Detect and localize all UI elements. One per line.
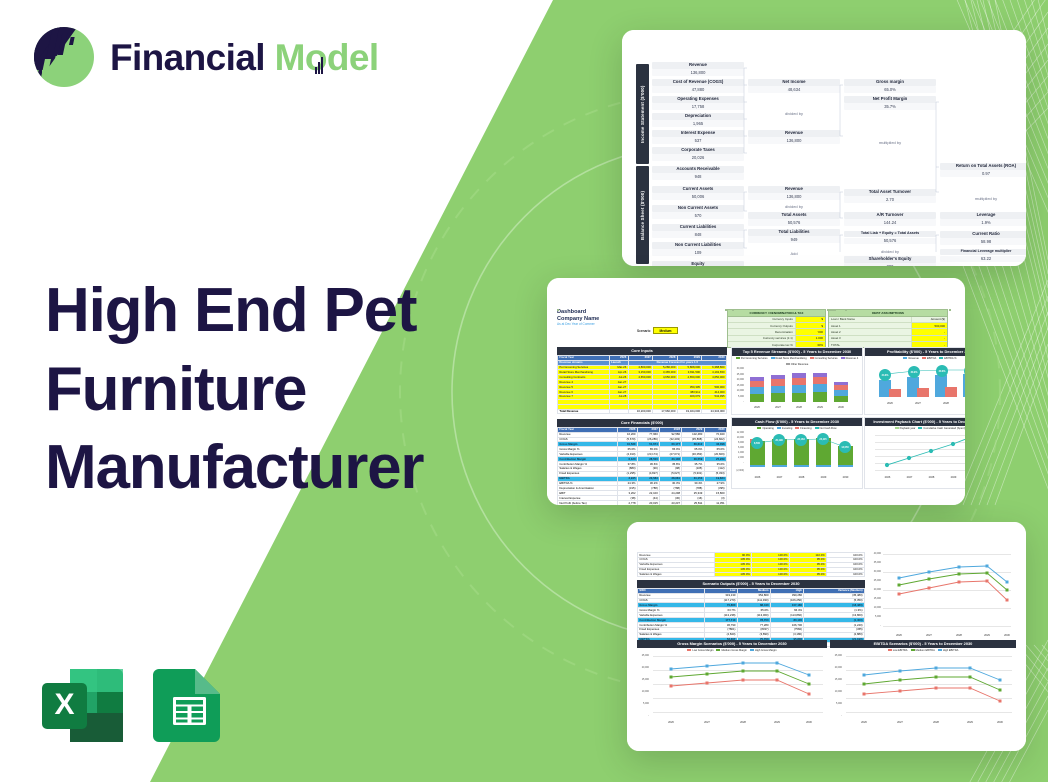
dupont-node-current-ratio: Current Ratio58.98 xyxy=(940,231,1026,245)
dupont-node-equity: Equity49,620 xyxy=(652,261,744,266)
cumulative-cash-line xyxy=(865,431,965,479)
dashboard-subtitle: As at Dec Year of Commer xyxy=(557,322,595,326)
band-income-statement: Income Statement ($'000) xyxy=(636,64,649,164)
dupont-node-taxes: Corporate Taxes20,026 xyxy=(652,147,744,161)
dupont-node-net-profit-margin: Net Profit Margin35.7% xyxy=(844,96,936,110)
scenario-outputs-block: Scenario Outputs ($'000) - 5 Years to De… xyxy=(637,580,865,647)
screenshot-card-scenario-analysis[interactable]: Revenue90.0%100.0%110.0%100.0% COGS105.0… xyxy=(627,522,1026,751)
chart-legend-revenue-streams: Pet Grooming Services Retail Store Merch… xyxy=(732,356,862,367)
brand-wordmark: Financial Model xyxy=(110,39,379,76)
scenario-selector[interactable]: Scenario Medium xyxy=(637,327,678,334)
bar-chart-accent-icon xyxy=(315,54,324,74)
microsoft-excel-icon[interactable]: X xyxy=(40,663,125,748)
dupont-node-total-asset-turnover: Total Asset Turnover2.70 xyxy=(844,189,936,203)
app-format-icons: X xyxy=(40,663,226,748)
dupont-node-ar-turnover: A/R Turnover144.24 xyxy=(844,212,936,226)
screenshot-card-dupont-analysis[interactable]: Income Statement ($'000) Balance Sheet (… xyxy=(622,30,1026,266)
dupont-tree: Income Statement ($'000) Balance Sheet (… xyxy=(636,64,1018,252)
scenario-content: Revenue90.0%100.0%110.0%100.0% COGS105.0… xyxy=(637,552,1016,733)
dashboard-content: Dashboard Company Name As at Dec Year of… xyxy=(557,309,955,487)
scenario-input-table: Revenue90.0%100.0%110.0%100.0% COGS105.0… xyxy=(637,552,865,577)
chart-top5-revenue-streams: Top 5 Revenue Streams ($'000) - 5 Years … xyxy=(731,347,863,415)
dupont-operator-divided-3: divided by xyxy=(870,249,910,254)
dupont-sheet: Income Statement ($'000) Balance Sheet (… xyxy=(622,30,1026,266)
dupont-node-current-assets: Current Assets50,006 xyxy=(652,186,744,200)
scenario-value[interactable]: Medium xyxy=(653,327,677,334)
dupont-node-leverage: Leverage1.9% xyxy=(940,212,1026,226)
dupont-node-gross-margin: Gross margin65.0% xyxy=(844,79,936,93)
gross-margin-lines xyxy=(637,653,827,725)
ebitda-lines xyxy=(830,653,1016,725)
dupont-node-noncurrent-assets: Non Current Assets570 xyxy=(652,205,744,219)
dupont-node-ar: Accounts Receivable948 xyxy=(652,166,744,180)
dupont-node-shareholders-equity: Shareholder's Equity800 xyxy=(844,256,936,266)
chart-ebitda-scenarios: EBITDA Scenarios ($'000) - 5 Years to De… xyxy=(830,640,1016,734)
dupont-node-net-income: Net Income48,634 xyxy=(748,79,840,93)
google-sheets-icon[interactable] xyxy=(153,663,226,748)
core-financials-table: Fiscal Year 2026 2027 2028 2029 2030 Rev… xyxy=(557,427,727,505)
dupont-operator-multiplied-2: multiplied by xyxy=(966,196,1006,201)
dupont-operator-multiplied-1: multiplied by xyxy=(870,140,910,145)
circle-bar-chart-logo-icon xyxy=(32,26,96,88)
dupont-node-revenue-2: Revenue136,800 xyxy=(748,130,840,144)
dupont-node-flm: Financial Leverage multiplier63.22 xyxy=(940,249,1026,262)
chart-gross-margin-scenarios: Gross Margin Scenarios ($'000) - 5 Years… xyxy=(637,640,827,734)
title-line-3: Manufacturer xyxy=(45,429,423,508)
brand-name-part1: Financial xyxy=(110,37,265,78)
dupont-node-roa: Return on Total Assets (ROA)0.97 xyxy=(940,163,1026,177)
dupont-node-depreciation: Depreciation1,965 xyxy=(652,113,744,127)
dupont-operator-divided-2: divided by xyxy=(774,204,814,209)
dupont-node-total-liab-equity: Total Liab + Equity = Total Assets50,576 xyxy=(844,231,936,244)
dupont-operator-add: Add xyxy=(774,251,814,256)
title-line-2: Furniture xyxy=(45,351,423,430)
brand-logo: Financial Model xyxy=(32,26,379,88)
dashboard-title: Dashboard Company Name xyxy=(557,309,599,323)
plot-revenue-streams: 30,00025,000 20,00015,000 10,0005,000 - xyxy=(732,367,862,409)
plot-revenue-scenarios: 40,00035,000 30,00025,000 20,00015,000 1… xyxy=(869,552,1015,638)
screenshot-card-dashboard[interactable]: Dashboard Company Name As at Dec Year of… xyxy=(547,278,965,505)
scenario-sheet: Revenue90.0%100.0%110.0%100.0% COGS105.0… xyxy=(627,522,1026,751)
assumption-debt: DEBT ASSUMPTIONS Loan / Bank NameAmount … xyxy=(828,309,948,348)
scenario-outputs-table: $000 Low Medium High Variance (Medium) R… xyxy=(637,588,865,648)
dupont-node-opex: Operating Expenses17,758 xyxy=(652,96,744,110)
svg-text:X: X xyxy=(54,688,74,721)
slide-canvas: Financial Model High End Pet Furniture M… xyxy=(0,0,1048,782)
chart-cash-flow: Cash Flow ($'000) - 5 Years to December … xyxy=(731,417,863,489)
dupont-node-noncurrent-liabilities: Non Current Liabilities109 xyxy=(652,242,744,256)
revenue-scenario-lines xyxy=(869,552,1015,638)
dupont-node-interest: Interest Expense537 xyxy=(652,130,744,144)
core-inputs-block: Core Inputs Fiscal Year 2026 2027 2028 2… xyxy=(557,347,727,414)
chart-investment-payback: Investment Payback Chart ($'000) - 5 Yea… xyxy=(864,417,965,489)
plot-cash-flow: 12,00010,000 8,0006,000 4,0002,000 -(2,0… xyxy=(732,431,862,479)
core-financials-block: Core Financials ($'000) Fiscal Year 2026… xyxy=(557,419,727,505)
plot-investment-payback: 75,000 70,000 65,000 60,000 50,000 40,00… xyxy=(865,431,965,479)
dupont-node-total-assets: Total Assets50,576 xyxy=(748,212,840,226)
title-line-1: High End Pet xyxy=(45,272,423,351)
assumption-currency-tax: CURRENCY / DENOMINATION & TAX Currency I… xyxy=(727,309,826,348)
dupont-node-cogs: Cost of Revenue (COGS)47,880 xyxy=(652,79,744,93)
dupont-node-current-liabilities: Current Liabilities848 xyxy=(652,224,744,238)
brand-name-part3: del xyxy=(327,39,379,76)
chart-revenue-scenarios: 40,00035,000 30,00025,000 20,00015,000 1… xyxy=(869,552,1015,638)
core-inputs-table: Fiscal Year 2026 2027 2028 2029 2030 Rev… xyxy=(557,355,727,415)
plot-gross-margin: 25,00020,000 15,00010,000 5,000- xyxy=(637,653,827,725)
dupont-node-total-liabilities: Total Liabilities949 xyxy=(748,229,840,243)
plot-ebitda: 25,00020,000 15,00010,000 5,000- xyxy=(830,653,1016,725)
scenario-label: Scenario xyxy=(637,329,650,333)
dupont-operator-divided-1: divided by xyxy=(774,111,814,116)
band-balance-sheet: Balance Sheet ($'000) xyxy=(636,166,649,264)
page-title: High End Pet Furniture Manufacturer xyxy=(45,272,423,508)
dashboard-sheet: Dashboard Company Name As at Dec Year of… xyxy=(547,278,965,505)
plot-profitability: 24.3% 30.2% 30.3% 30.4% 27.9% 2026 2027 … xyxy=(865,361,965,405)
dupont-node-revenue-3: Revenue136,800 xyxy=(748,186,840,200)
dupont-node-revenue: Revenue136,800 xyxy=(652,62,744,76)
chart-profitability: Profitability ($'000) - 5 Years to Decem… xyxy=(864,347,965,415)
